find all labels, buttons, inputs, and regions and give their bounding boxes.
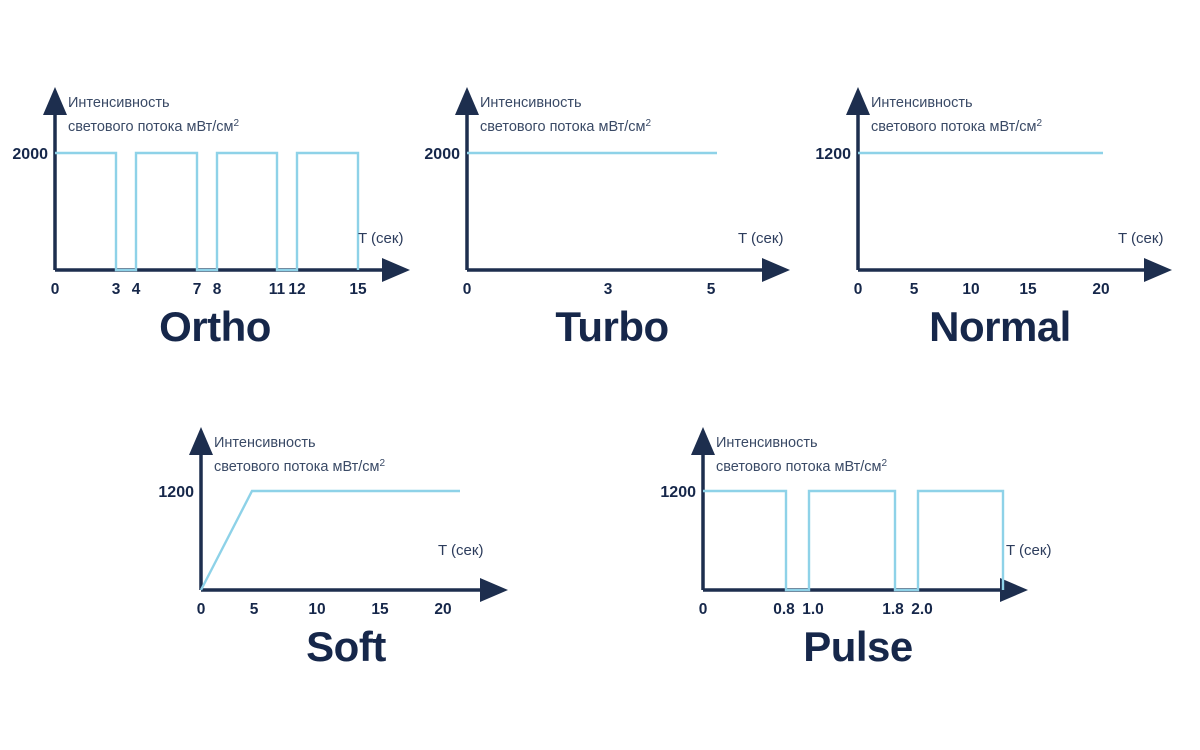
y-axis-arrow-icon	[43, 87, 67, 115]
x-tick-label: 5	[910, 281, 919, 298]
signal-waveform	[201, 491, 460, 590]
x-tick-label: 4	[132, 281, 141, 298]
x-tick-label: 0	[51, 281, 60, 298]
y-value-label: 1200	[660, 484, 696, 501]
chart-title-ortho: Ortho	[0, 303, 430, 351]
x-tick-label: 5	[250, 601, 259, 618]
chart-plot-pulse: 1200 Интенсивность светового потока мВт/…	[648, 425, 1068, 620]
x-tick-label: 20	[434, 601, 451, 618]
chart-plot-normal: 1200 Интенсивность светового потока мВт/…	[800, 85, 1200, 300]
y-axis-caption-superscript: 2	[882, 458, 888, 469]
signal-waveform	[55, 153, 358, 270]
signal-waveform	[703, 491, 1003, 590]
y-axis-caption-text: светового потока мВт/см	[716, 459, 882, 475]
chart-title-pulse: Pulse	[648, 623, 1068, 671]
chart-panel-soft: 1200 Интенсивность светового потока мВт/…	[146, 425, 546, 695]
x-tick-label: 7	[193, 281, 202, 298]
x-tick-label: 15	[371, 601, 389, 618]
chart-panel-turbo: 2000 Интенсивность светового потока мВт/…	[412, 85, 812, 355]
chart-title-turbo: Turbo	[412, 303, 812, 351]
x-tick-label: 15	[1019, 281, 1037, 298]
chart-panel-normal: 1200 Интенсивность светового потока мВт/…	[800, 85, 1200, 355]
chart-panel-ortho: 2000 Интенсивность светового потока мВт/…	[0, 85, 430, 355]
y-axis-caption-line1: Интенсивность	[68, 95, 170, 111]
y-axis-arrow-icon	[846, 87, 870, 115]
y-axis-caption-line2: светового потока мВт/см2	[716, 458, 888, 475]
y-axis-arrow-icon	[455, 87, 479, 115]
y-axis-caption-line1: Интенсивность	[480, 95, 582, 111]
x-axis-arrow-icon	[382, 258, 410, 282]
y-axis-arrow-icon	[691, 427, 715, 455]
x-axis-caption: T (сек)	[738, 230, 783, 247]
chart-title-normal: Normal	[800, 303, 1200, 351]
x-axis-arrow-icon	[480, 578, 508, 602]
y-value-label: 1200	[158, 484, 194, 501]
x-tick-label: 3	[112, 281, 121, 298]
y-value-label: 2000	[12, 146, 48, 163]
y-axis-caption-line2: светового потока мВт/см2	[68, 118, 240, 135]
chart-plot-turbo: 2000 Интенсивность светового потока мВт/…	[412, 85, 812, 300]
x-tick-label: 5	[707, 281, 716, 298]
x-axis-arrow-icon	[1144, 258, 1172, 282]
chart-plot-ortho: 2000 Интенсивность светового потока мВт/…	[0, 85, 430, 300]
y-axis-caption-line2: светового потока мВт/см2	[480, 118, 652, 135]
chart-plot-soft: 1200 Интенсивность светового потока мВт/…	[146, 425, 546, 620]
y-axis-caption-superscript: 2	[234, 118, 240, 129]
x-tick-label: 2.0	[911, 601, 933, 618]
x-tick-label: 15	[349, 281, 367, 298]
y-axis-caption-superscript: 2	[646, 118, 652, 129]
x-tick-label: 10	[962, 281, 979, 298]
x-tick-label: 0	[699, 601, 708, 618]
x-tick-label: 10	[308, 601, 325, 618]
y-axis-caption-line1: Интенсивность	[871, 95, 973, 111]
y-value-label: 1200	[815, 146, 851, 163]
x-tick-label: 1.8	[882, 601, 904, 618]
x-tick-label: 0	[197, 601, 206, 618]
chart-panel-pulse: 1200 Интенсивность светового потока мВт/…	[648, 425, 1068, 695]
y-axis-caption-text: светового потока мВт/см	[480, 119, 646, 135]
x-axis-caption: T (сек)	[438, 542, 483, 559]
y-axis-caption-superscript: 2	[380, 458, 386, 469]
y-axis-caption-line1: Интенсивность	[716, 435, 818, 451]
y-value-label: 2000	[424, 146, 460, 163]
x-tick-label: 0	[463, 281, 472, 298]
x-tick-label: 1.0	[802, 601, 824, 618]
x-axis-arrow-icon	[762, 258, 790, 282]
x-tick-label: 20	[1092, 281, 1109, 298]
chart-title-soft: Soft	[146, 623, 546, 671]
x-tick-label: 12	[288, 281, 305, 298]
y-axis-caption-text: светового потока мВт/см	[214, 459, 380, 475]
x-tick-label: 11	[269, 281, 286, 298]
y-axis-caption-text: светового потока мВт/см	[68, 119, 234, 135]
y-axis-caption-line2: светового потока мВт/см2	[214, 458, 386, 475]
x-tick-label: 8	[213, 281, 222, 298]
x-axis-caption: T (сек)	[358, 230, 403, 247]
x-tick-label: 3	[604, 281, 613, 298]
x-tick-label: 0.8	[773, 601, 795, 618]
x-axis-caption: T (сек)	[1118, 230, 1163, 247]
x-tick-label: 0	[854, 281, 863, 298]
y-axis-arrow-icon	[189, 427, 213, 455]
y-axis-caption-line1: Интенсивность	[214, 435, 316, 451]
y-axis-caption-superscript: 2	[1037, 118, 1043, 129]
y-axis-caption-text: светового потока мВт/см	[871, 119, 1037, 135]
y-axis-caption-line2: светового потока мВт/см2	[871, 118, 1043, 135]
x-axis-caption: T (сек)	[1006, 542, 1051, 559]
